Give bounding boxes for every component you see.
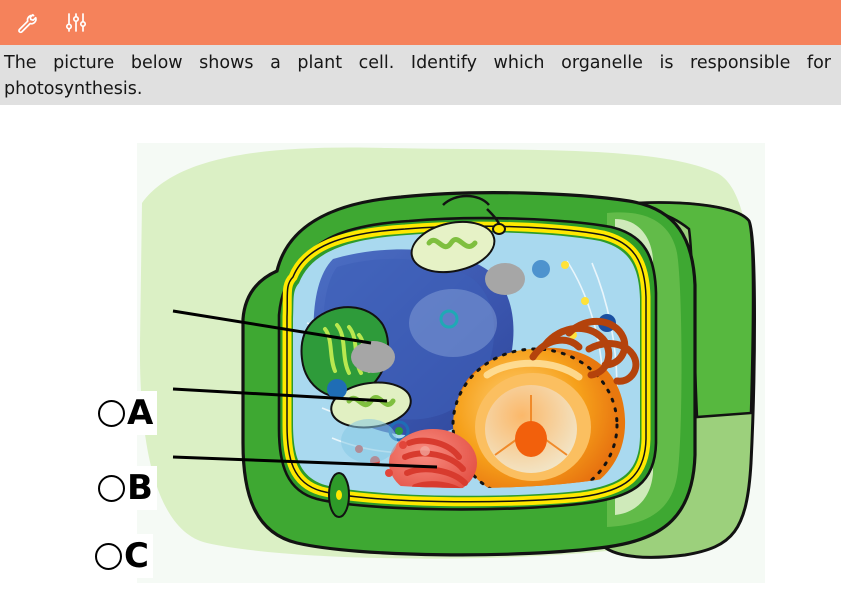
- radio-button-a[interactable]: [98, 400, 125, 427]
- radio-button-c[interactable]: [95, 543, 122, 570]
- granule-2: [581, 297, 589, 305]
- answer-option-a-label: A: [127, 396, 153, 430]
- answer-option-b-label: B: [127, 471, 153, 505]
- peroxisome-2: [485, 263, 525, 295]
- vacuole-highlight: [409, 289, 497, 357]
- figure-area: A B C: [0, 105, 841, 611]
- sliders-tool-button[interactable]: [58, 6, 94, 40]
- wrench-tool-button[interactable]: [10, 6, 46, 40]
- wrench-icon: [16, 11, 40, 35]
- granule-1: [561, 261, 569, 269]
- golgi-vesicle-2: [385, 469, 393, 477]
- answer-option-a[interactable]: A: [98, 391, 157, 435]
- radio-button-b[interactable]: [98, 475, 125, 502]
- question-band: The picture below shows a plant cell. Id…: [0, 45, 841, 105]
- golgi-vesicle-4: [399, 441, 407, 449]
- plant-cell-diagram: [137, 143, 765, 583]
- toolbar: [0, 0, 841, 45]
- plasmodesma-bottom-pore: [336, 490, 342, 500]
- vesicle-1: [327, 379, 347, 399]
- question-screen: The picture below shows a plant cell. Id…: [0, 0, 841, 611]
- answer-option-b[interactable]: B: [98, 466, 157, 510]
- answer-option-c[interactable]: C: [95, 534, 153, 578]
- plasmodesma-pore: [493, 224, 505, 234]
- answer-option-c-label: C: [124, 539, 149, 573]
- nucleolus: [515, 421, 547, 457]
- vesicle-2: [532, 260, 550, 278]
- peroxisome-1: [351, 341, 395, 373]
- question-text: The picture below shows a plant cell. Id…: [4, 50, 831, 102]
- sliders-icon: [64, 11, 88, 35]
- cytoplasm-shade: [341, 419, 397, 463]
